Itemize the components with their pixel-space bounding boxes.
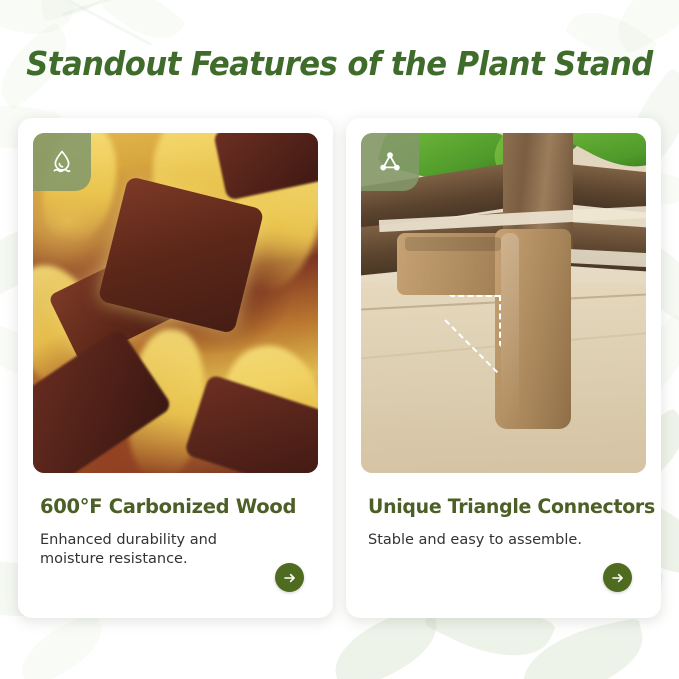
- card-heading: Unique Triangle Connectors: [368, 495, 636, 518]
- card-description: Stable and easy to assemble.: [368, 531, 608, 550]
- card-photo-triangle-connector: [361, 133, 646, 473]
- card-heading: 600°F Carbonized Wood: [40, 495, 316, 518]
- leaf-decoration: [515, 618, 651, 679]
- infographic-page: Standout Features of the Plant Stand: [0, 0, 679, 679]
- card-arrow-button[interactable]: [603, 563, 632, 592]
- badge-water-droplet: [33, 133, 91, 191]
- leaf-decoration: [34, 0, 129, 22]
- arrow-right-icon: [610, 570, 626, 586]
- badge-triangle-connector: [361, 133, 419, 191]
- card-photo-burning-wood: [33, 133, 318, 473]
- feature-card-carbonized-wood[interactable]: 600°F Carbonized Wood Enhanced durabilit…: [18, 118, 333, 618]
- water-droplet-icon: [47, 147, 77, 177]
- feature-card-triangle-connectors[interactable]: Unique Triangle Connectors Stable and ea…: [346, 118, 661, 618]
- leaf-decoration: [11, 611, 113, 679]
- stem-decoration: [62, 0, 168, 16]
- card-description: Enhanced durability and moisture resista…: [40, 531, 240, 570]
- card-body: Unique Triangle Connectors Stable and ea…: [361, 473, 646, 618]
- page-title: Standout Features of the Plant Stand: [24, 44, 655, 83]
- triangle-connector-icon: [375, 147, 405, 177]
- connector-highlight: [501, 233, 519, 423]
- card-body: 600°F Carbonized Wood Enhanced durabilit…: [33, 473, 318, 618]
- stem-decoration: [18, 0, 152, 46]
- feature-cards: 600°F Carbonized Wood Enhanced durabilit…: [18, 118, 661, 618]
- arrow-right-icon: [282, 570, 298, 586]
- connector-socket-shadow: [405, 237, 501, 251]
- card-arrow-button[interactable]: [275, 563, 304, 592]
